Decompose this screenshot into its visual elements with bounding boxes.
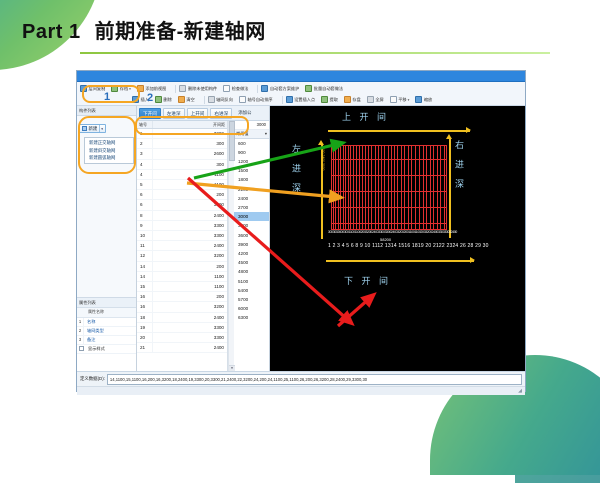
grid-vertical-line bbox=[345, 145, 346, 230]
row-axis-number: 4 bbox=[137, 170, 153, 179]
common-values-caret-icon[interactable]: ▾ bbox=[265, 130, 267, 138]
grid-vertical-line bbox=[408, 145, 409, 230]
rule-right bbox=[449, 138, 451, 238]
rule-right-arrow-icon bbox=[446, 134, 452, 139]
common-value-item[interactable]: 900 bbox=[234, 148, 269, 157]
property-row[interactable]: 1名称 bbox=[77, 318, 136, 327]
table-row[interactable]: 193300 bbox=[137, 323, 227, 333]
row-axis-number: 20 bbox=[137, 333, 153, 342]
table-row[interactable]: 151100 bbox=[137, 282, 227, 292]
table-row[interactable]: 141100 bbox=[137, 272, 227, 282]
canvas-label-top: 上 开 间 bbox=[342, 110, 389, 123]
spacing-table-body[interactable]: 1300023003260043004110051100620063200824… bbox=[137, 129, 227, 353]
ribbon-button[interactable]: 设置插入点 bbox=[286, 96, 315, 103]
reverse-icon bbox=[208, 96, 215, 103]
common-values-header: 常用值 ▾ bbox=[234, 130, 269, 139]
ribbon-button[interactable]: 存盘 bbox=[344, 96, 361, 103]
grid-preview-canvas[interactable]: 上 开 间 下 开 间 左 进 深 右 进 深 3000 2400 3000 3… bbox=[270, 106, 525, 371]
spacing-col-index: 轴号 bbox=[137, 121, 153, 128]
grid-vertical-line bbox=[375, 145, 376, 230]
ribbon-row-secondary: 插入删除清空轴网反向轴号自动排序设置插入点提取存盘全屏平移▾缩放 bbox=[77, 94, 525, 105]
grid-vertical-line bbox=[340, 145, 341, 230]
grid-vertical-line bbox=[381, 145, 382, 230]
row-spacing-value[interactable]: 300 bbox=[153, 139, 227, 148]
ribbon-button-label: 设置插入点 bbox=[294, 96, 315, 103]
grid-horizontal-line bbox=[331, 223, 446, 224]
row-spacing-value[interactable]: 3300 bbox=[153, 323, 227, 332]
page-title-text: 前期准备-新建轴网 bbox=[95, 21, 266, 43]
ribbon-button[interactable]: 提取 bbox=[321, 96, 338, 103]
ribbon-separator bbox=[257, 85, 258, 93]
new-grid-dropdown-menu[interactable]: 新建正交轴网新建斜交轴网新建圆弧轴网 bbox=[84, 137, 134, 164]
grid-vertical-line bbox=[440, 145, 441, 230]
row-spacing-value[interactable]: 3000 bbox=[153, 129, 227, 138]
grid-vertical-line bbox=[411, 145, 412, 230]
common-value-item[interactable]: 2100 bbox=[234, 185, 269, 194]
row-spacing-value[interactable]: 3200 bbox=[153, 302, 227, 311]
grid-vertical-line bbox=[437, 145, 438, 230]
row-axis-number: 12 bbox=[137, 251, 153, 260]
definition-label: 定义数据(D): bbox=[80, 376, 105, 382]
sort-icon bbox=[239, 96, 246, 103]
new-button-label: 新建 bbox=[89, 126, 98, 132]
ribbon-button[interactable]: 检查做法 bbox=[223, 85, 248, 92]
ribbon-separator bbox=[204, 96, 205, 104]
ribbon-button-label: 轴号自动排序 bbox=[247, 96, 272, 103]
direction-tabbar: 下开间左进深上开间右进深添加公 bbox=[137, 106, 269, 121]
table-row[interactable]: 93300 bbox=[137, 221, 227, 231]
property-list-caption: 属性列表 bbox=[77, 298, 136, 308]
row-axis-number: 14 bbox=[137, 262, 153, 271]
table-row[interactable]: 13000 bbox=[137, 129, 227, 139]
common-value-item[interactable]: 4200 bbox=[234, 249, 269, 258]
chevron-down-icon[interactable]: ▾ bbox=[101, 127, 103, 131]
grid-vertical-line bbox=[331, 145, 332, 230]
zoom-icon bbox=[415, 96, 422, 103]
grid-vertical-line bbox=[353, 145, 354, 230]
canvas-label-right: 右 进 深 bbox=[453, 140, 466, 192]
dimension-strip: 3003002600300110011002003200240033003300… bbox=[328, 230, 457, 234]
property-row[interactable]: 2轴网类型 bbox=[77, 327, 136, 336]
definition-bar: 定义数据(D): 14,1100,15,1100,16,200,16,3200,… bbox=[77, 371, 525, 386]
total-dimension: 58200 bbox=[380, 237, 391, 242]
property-row-index: 2 bbox=[77, 327, 84, 335]
grid-horizontal-line bbox=[331, 159, 446, 160]
grid-horizontal-line bbox=[331, 207, 446, 208]
canvas-label-left: 左 进 深 bbox=[290, 144, 303, 196]
new-grid-menu-item[interactable]: 新建正交轴网 bbox=[87, 139, 131, 147]
row-spacing-value[interactable]: 2400 bbox=[153, 313, 227, 322]
row-spacing-value[interactable]: 3200 bbox=[153, 200, 227, 209]
row-spacing-value[interactable]: 200 bbox=[153, 292, 227, 301]
ribbon-button-label: 清空 bbox=[186, 96, 194, 103]
ribbon-button[interactable]: 平移▾ bbox=[390, 96, 410, 103]
ribbon-separator bbox=[282, 96, 283, 104]
grid-vertical-line bbox=[391, 145, 392, 230]
tab-右进深[interactable]: 右进深 bbox=[210, 108, 232, 119]
table-row[interactable]: 163200 bbox=[137, 302, 227, 312]
ribbon-button[interactable]: 清空 bbox=[178, 96, 195, 103]
insert-point-icon bbox=[286, 96, 293, 103]
grid-vertical-line bbox=[362, 145, 363, 230]
pan-icon bbox=[390, 96, 397, 103]
ribbon-button-label: 平移 bbox=[398, 96, 406, 103]
ribbon-separator bbox=[175, 85, 176, 93]
common-values-panel: 3000 常用值 ▾ 60090012001500180021002400270… bbox=[234, 121, 269, 371]
row-spacing-value[interactable]: 1100 bbox=[153, 180, 227, 189]
property-row-name: 名称 bbox=[84, 318, 95, 326]
ribbon-toolbar: 层间复制存档▾添加前视图删除未使用构件检查做法自动套方案维护批量自动套做法 插入… bbox=[77, 82, 525, 106]
row-axis-number: 18 bbox=[137, 313, 153, 322]
table-row[interactable]: 2300 bbox=[137, 139, 227, 149]
row-spacing-value[interactable]: 300 bbox=[153, 160, 227, 169]
table-row[interactable]: 16200 bbox=[137, 292, 227, 302]
grid-tables: 轴号 开间距 130002300326004300411005110062006… bbox=[137, 121, 269, 371]
row-spacing-value[interactable]: 1100 bbox=[153, 272, 227, 281]
grid-vertical-line bbox=[415, 145, 416, 230]
show-style-label: 显示样式 bbox=[85, 345, 105, 353]
grid-vertical-line bbox=[338, 145, 339, 230]
auto-plan-icon bbox=[261, 85, 268, 92]
row-axis-number: 2 bbox=[137, 139, 153, 148]
definition-input[interactable]: 14,1100,15,1100,16,200,16,3200,18,2400,1… bbox=[107, 374, 522, 385]
row-spacing-value[interactable]: 2400 bbox=[153, 241, 227, 250]
common-value-item[interactable]: 5400 bbox=[234, 286, 269, 295]
grid-vertical-line bbox=[384, 145, 385, 230]
ribbon-button[interactable]: 自动套方案维护 bbox=[261, 85, 299, 92]
property-rows: 1名称2轴网类型3备注 bbox=[77, 318, 136, 345]
fullscreen-icon bbox=[367, 96, 374, 103]
rule-bottom-arrow-icon bbox=[470, 257, 475, 263]
row-axis-number: 16 bbox=[137, 292, 153, 301]
common-value-item[interactable]: 4500 bbox=[234, 258, 269, 267]
row-spacing-value[interactable]: 3300 bbox=[153, 231, 227, 240]
rule-top-arrow-icon bbox=[466, 127, 471, 133]
grid-horizontal-line bbox=[331, 175, 446, 176]
add-axis-button[interactable]: 添加公 bbox=[238, 110, 251, 116]
property-row-name: 备注 bbox=[84, 336, 95, 344]
ribbon-button-label: 添加前视图 bbox=[145, 85, 166, 92]
common-values-title: 常用值 bbox=[236, 130, 249, 138]
delete-icon bbox=[179, 85, 186, 92]
spacing-table-scrollbar[interactable]: ▾ bbox=[228, 121, 234, 371]
check-icon bbox=[223, 85, 230, 92]
ribbon-row-primary: 层间复制存档▾添加前视图删除未使用构件检查做法自动套方案维护批量自动套做法 bbox=[77, 83, 525, 94]
grid-vertical-line bbox=[335, 145, 336, 230]
spacing-table-header: 轴号 开间距 bbox=[137, 121, 227, 129]
clear-icon bbox=[178, 96, 185, 103]
title-divider bbox=[80, 52, 550, 54]
ribbon-button-label: 插入 bbox=[141, 96, 149, 103]
ribbon-button-label: 存档 bbox=[120, 85, 128, 92]
grid-vertical-line bbox=[430, 145, 431, 230]
ribbon-button-label: 全屏 bbox=[375, 96, 383, 103]
new-grid-area: 新建 ▾ 新建正交轴网新建斜交轴网新建圆弧轴网 bbox=[77, 116, 136, 164]
property-show-style-row[interactable]: 显示样式 bbox=[77, 345, 136, 354]
common-value-item[interactable]: 2400 bbox=[234, 194, 269, 203]
table-row[interactable]: 4300 bbox=[137, 160, 227, 170]
chevron-down-icon[interactable]: ▾ bbox=[129, 87, 131, 91]
grid-vertical-line bbox=[359, 145, 360, 230]
grid-vertical-line bbox=[368, 145, 369, 230]
row-axis-number: 15 bbox=[137, 282, 153, 291]
common-value-item[interactable]: 4800 bbox=[234, 267, 269, 276]
ribbon-button[interactable]: 添加前视图 bbox=[137, 85, 166, 92]
spacing-col-value: 开间距 bbox=[153, 121, 227, 128]
new-grid-menu-item[interactable]: 新建圆弧轴网 bbox=[87, 154, 131, 162]
property-row[interactable]: 3备注 bbox=[77, 336, 136, 345]
row-axis-number: 19 bbox=[137, 323, 153, 332]
table-row[interactable]: 182400 bbox=[137, 313, 227, 323]
copy-icon bbox=[80, 85, 87, 92]
table-row[interactable]: 32600 bbox=[137, 149, 227, 159]
ribbon-button[interactable]: 删除未使用构件 bbox=[179, 85, 217, 92]
ribbon-button-label: 批量自动套做法 bbox=[314, 85, 343, 92]
ribbon-button-label: 存盘 bbox=[352, 96, 360, 103]
ribbon-button[interactable]: 轴网反向 bbox=[208, 96, 233, 103]
ribbon-button-label: 提取 bbox=[330, 96, 338, 103]
property-col-index bbox=[77, 308, 86, 317]
common-value-item[interactable]: 2700 bbox=[234, 203, 269, 212]
row-axis-number: 11 bbox=[137, 241, 153, 250]
grid-vertical-line bbox=[446, 145, 447, 230]
row-spacing-value[interactable]: 3200 bbox=[153, 251, 227, 260]
ribbon-button[interactable]: 缩放 bbox=[415, 96, 432, 103]
property-list-panel: 属性列表 属性名称 1名称2轴网类型3备注 显示样式 bbox=[77, 297, 136, 371]
add-view-icon bbox=[137, 85, 144, 92]
tab-上开间[interactable]: 上开间 bbox=[187, 108, 209, 119]
row-axis-number: 21 bbox=[137, 343, 153, 352]
common-value-item[interactable]: 3300 bbox=[234, 221, 269, 230]
grid-editor-panel: 下开间左进深上开间右进深添加公 轴号 开间距 13000230032600430… bbox=[137, 106, 270, 371]
chevron-down-icon[interactable]: ▾ bbox=[408, 98, 410, 102]
grid-vertical-line bbox=[350, 145, 351, 230]
common-top-value: 3000 bbox=[234, 121, 269, 130]
table-row[interactable]: 51100 bbox=[137, 180, 227, 190]
common-value-item[interactable]: 3600 bbox=[234, 231, 269, 240]
common-value-item[interactable]: 600 bbox=[234, 139, 269, 148]
property-row-name: 轴网类型 bbox=[84, 327, 104, 335]
grid-vertical-line bbox=[343, 145, 344, 230]
resize-grip-icon[interactable]: ◢ bbox=[518, 387, 522, 395]
new-icon bbox=[82, 126, 87, 131]
ribbon-button-label: 检查做法 bbox=[232, 85, 249, 92]
rule-left-arrow-icon bbox=[318, 140, 324, 145]
table-row[interactable]: 203300 bbox=[137, 333, 227, 343]
archive-icon bbox=[111, 85, 118, 92]
grid-vertical-line bbox=[423, 145, 424, 230]
row-spacing-value[interactable]: 200 bbox=[153, 262, 227, 271]
table-row[interactable]: 82400 bbox=[137, 211, 227, 221]
vertical-dimension-text: 3000 2400 3000 bbox=[321, 146, 325, 171]
table-row[interactable]: 63200 bbox=[137, 200, 227, 210]
row-axis-number: 6 bbox=[137, 200, 153, 209]
scrollbar-thumb[interactable] bbox=[229, 121, 235, 161]
axis-grid-drawing bbox=[331, 145, 446, 230]
axis-number-strip: 1 2 3 4 5 6 8 9 10 1112 1314 1516 1819 2… bbox=[328, 243, 489, 249]
row-axis-number: 1 bbox=[137, 129, 153, 138]
row-spacing-value[interactable]: 1100 bbox=[153, 282, 227, 291]
ribbon-button[interactable]: 层间复制 bbox=[80, 85, 105, 92]
grid-vertical-line bbox=[388, 145, 389, 230]
ribbon-button[interactable]: 全屏 bbox=[367, 96, 384, 103]
row-axis-number: 5 bbox=[137, 180, 153, 189]
property-row-index: 3 bbox=[77, 336, 84, 344]
ribbon-button[interactable]: 存档▾ bbox=[111, 85, 131, 92]
ribbon-button-label: 删除未使用构件 bbox=[188, 85, 217, 92]
row-axis-number: 16 bbox=[137, 302, 153, 311]
batch-auto-icon bbox=[305, 85, 312, 92]
row-axis-number: 8 bbox=[137, 211, 153, 220]
row-spacing-value[interactable]: 2600 bbox=[153, 149, 227, 158]
ribbon-button-label: 层间复制 bbox=[89, 85, 106, 92]
row-axis-number: 4 bbox=[137, 160, 153, 169]
common-values-list[interactable]: 6009001200150018002100240027003000330036… bbox=[234, 139, 269, 372]
row-axis-number: 3 bbox=[137, 149, 153, 158]
common-value-item[interactable]: 1500 bbox=[234, 166, 269, 175]
row-spacing-value[interactable]: 1100 bbox=[153, 170, 227, 179]
ribbon-button-label: 缩放 bbox=[424, 96, 432, 103]
grid-vertical-line bbox=[444, 145, 445, 230]
row-axis-number: 6 bbox=[137, 190, 153, 199]
grid-horizontal-line bbox=[331, 145, 446, 146]
table-row[interactable]: 103300 bbox=[137, 231, 227, 241]
property-column-header: 属性名称 bbox=[77, 308, 136, 318]
row-spacing-value[interactable]: 2400 bbox=[153, 343, 227, 352]
tab-左进深[interactable]: 左进深 bbox=[163, 108, 185, 119]
ribbon-button-label: 自动套方案维护 bbox=[270, 85, 299, 92]
grid-vertical-line bbox=[433, 145, 434, 230]
scrollbar-down-arrow[interactable]: ▾ bbox=[229, 365, 235, 371]
status-bar: ◢ bbox=[77, 386, 525, 395]
grid-vertical-line bbox=[348, 145, 349, 230]
grid-vertical-line bbox=[333, 145, 334, 230]
property-col-name: 属性名称 bbox=[86, 308, 106, 317]
property-row-index: 1 bbox=[77, 318, 84, 326]
page-title: Part 1前期准备-新建轴网 bbox=[22, 15, 266, 44]
grid-vertical-line bbox=[426, 145, 427, 230]
grid-vertical-line bbox=[378, 145, 379, 230]
grid-horizontal-line bbox=[331, 191, 446, 192]
extract-icon bbox=[321, 96, 328, 103]
ribbon-button-label: 删除 bbox=[163, 96, 171, 103]
grid-vertical-line bbox=[356, 145, 357, 230]
row-spacing-value[interactable]: 3300 bbox=[153, 333, 227, 342]
spacing-table: 轴号 开间距 130002300326004300411005110062006… bbox=[137, 121, 228, 371]
grid-vertical-line bbox=[397, 145, 398, 230]
tab-下开间[interactable]: 下开间 bbox=[139, 108, 161, 119]
application-window: 层间复制存档▾添加前视图删除未使用构件检查做法自动套方案维护批量自动套做法 插入… bbox=[76, 70, 526, 392]
table-row[interactable]: 123200 bbox=[137, 251, 227, 261]
common-value-item[interactable]: 5700 bbox=[234, 295, 269, 304]
common-value-item[interactable]: 6300 bbox=[234, 313, 269, 322]
common-value-item[interactable]: 6000 bbox=[234, 304, 269, 313]
table-row[interactable]: 41100 bbox=[137, 170, 227, 180]
save-icon bbox=[344, 96, 351, 103]
window-titlebar[interactable] bbox=[77, 71, 525, 82]
table-row[interactable]: 112400 bbox=[137, 241, 227, 251]
rule-top bbox=[328, 130, 470, 132]
ribbon-button-label: 轴网反向 bbox=[216, 96, 233, 103]
row-spacing-value[interactable]: 3300 bbox=[153, 221, 227, 230]
ribbon-button[interactable]: 插入 bbox=[132, 96, 149, 103]
show-style-checkbox[interactable] bbox=[79, 346, 84, 351]
row-axis-number: 10 bbox=[137, 231, 153, 240]
window-body: 构件列表 新建 ▾ 新建正交轴网新建斜交轴网新建圆弧轴网 属性列表 属性名称 1… bbox=[77, 106, 525, 371]
grid-vertical-line bbox=[419, 145, 420, 230]
grid-vertical-line bbox=[365, 145, 366, 230]
common-value-item[interactable]: 1200 bbox=[234, 157, 269, 166]
row-spacing-value[interactable]: 2400 bbox=[153, 211, 227, 220]
ribbon-button[interactable]: 删除 bbox=[155, 96, 172, 103]
row-axis-number: 14 bbox=[137, 272, 153, 281]
rule-bottom bbox=[326, 260, 474, 262]
remove-icon bbox=[155, 96, 162, 103]
table-row[interactable]: 14200 bbox=[137, 262, 227, 272]
ribbon-button[interactable]: 批量自动套做法 bbox=[305, 85, 343, 92]
row-axis-number: 9 bbox=[137, 221, 153, 230]
table-row[interactable]: 212400 bbox=[137, 343, 227, 353]
row-spacing-value[interactable]: 200 bbox=[153, 190, 227, 199]
new-button[interactable]: 新建 ▾ bbox=[79, 124, 106, 133]
grid-vertical-line bbox=[371, 145, 372, 230]
component-list-caption: 构件列表 bbox=[77, 106, 136, 116]
common-value-item[interactable]: 3900 bbox=[234, 240, 269, 249]
table-row[interactable]: 6200 bbox=[137, 190, 227, 200]
grid-vertical-line bbox=[401, 145, 402, 230]
common-value-item[interactable]: 5100 bbox=[234, 277, 269, 286]
component-list-panel: 构件列表 新建 ▾ 新建正交轴网新建斜交轴网新建圆弧轴网 属性列表 属性名称 1… bbox=[77, 106, 137, 371]
grid-vertical-line bbox=[404, 145, 405, 230]
new-grid-menu-item[interactable]: 新建斜交轴网 bbox=[87, 147, 131, 155]
grid-vertical-line bbox=[394, 145, 395, 230]
canvas-label-bottom: 下 开 间 bbox=[344, 274, 391, 287]
common-value-item[interactable]: 1800 bbox=[234, 175, 269, 184]
page-title-part: Part 1 bbox=[22, 21, 81, 43]
common-value-item[interactable]: 3000 bbox=[234, 212, 269, 221]
insert-icon bbox=[132, 96, 139, 103]
ribbon-button[interactable]: 轴号自动排序 bbox=[239, 96, 273, 103]
new-button-divider bbox=[99, 125, 100, 132]
